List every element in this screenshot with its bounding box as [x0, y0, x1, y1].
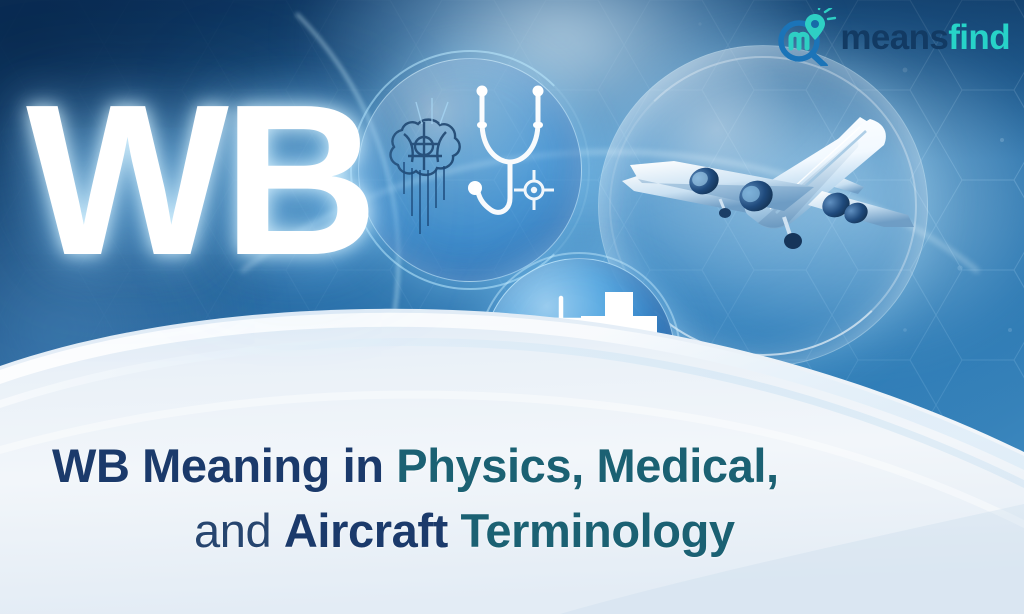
brand-logo[interactable]: meansfind [775, 8, 1010, 66]
headline: WB Meaning in Physics, Medical, and Airc… [0, 434, 1024, 564]
brain-neuron-icon [391, 120, 460, 175]
stethoscope-chestpiece [468, 181, 482, 195]
stethoscope-icon [478, 92, 538, 212]
headline-seg-wb-meaning-in: WB Meaning in [52, 439, 396, 492]
stethoscope-earpiece-left [477, 86, 488, 97]
headline-seg-terminology: Terminology [461, 504, 735, 557]
medical-bubble-icons [358, 58, 582, 282]
headline-line-1: WB Meaning in Physics, Medical, [52, 434, 1024, 499]
stethoscope-earpiece-right [533, 86, 544, 97]
magnifier-m-logo-icon [775, 8, 837, 66]
brand-name-find: find [948, 18, 1010, 57]
banner-image: meansfind WB WB Meaning in Physics, Medi… [0, 0, 1024, 614]
headline-line-2: and Aircraft Terminology [52, 499, 1024, 564]
brand-name-means: means [840, 18, 948, 57]
brand-wordmark: meansfind [840, 20, 1010, 55]
headline-seg-aircraft: Aircraft [284, 504, 461, 557]
headline-seg-and: and [194, 504, 284, 557]
commercial-airliner-icon [608, 95, 920, 285]
hero-acronym: WB [26, 72, 372, 287]
headline-seg-physics-medical: Physics, Medical, [396, 439, 778, 492]
